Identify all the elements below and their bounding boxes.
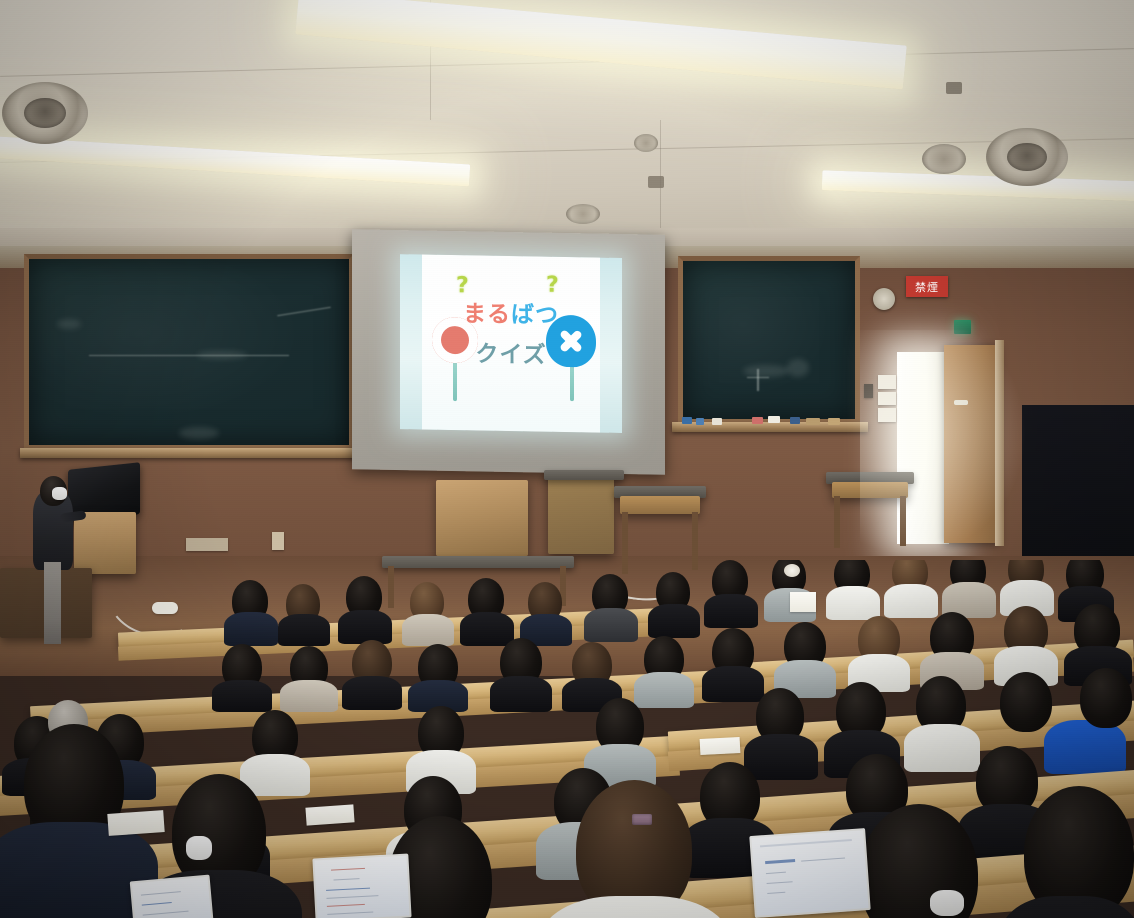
door-panel[interactable] <box>944 345 1000 543</box>
slide-heading-row: まるばつ <box>422 302 600 328</box>
ceiling-light-strip-left <box>0 135 470 186</box>
ceiling-vent-right <box>986 128 1068 186</box>
hair-scrunchie <box>784 564 800 577</box>
ceiling-speaker-right <box>946 82 962 94</box>
student-body <box>338 610 392 644</box>
ceiling-light-strip-top <box>295 0 906 90</box>
chalkboard-right <box>678 256 860 424</box>
tablet-left-screen <box>314 856 409 918</box>
chalk-box-navy <box>790 417 800 424</box>
door-frame <box>995 340 1004 546</box>
door-handle[interactable] <box>954 400 968 405</box>
wall-notice-1 <box>878 375 896 389</box>
student-body <box>884 584 938 618</box>
student-body <box>744 734 818 780</box>
right-stage-table-leg-a <box>834 496 840 548</box>
no-smoking-sign: 禁煙 <box>906 276 948 297</box>
slide-subheading-quiz: クイズ <box>422 342 600 368</box>
student-tablet-left[interactable] <box>312 854 411 918</box>
hair-clip <box>632 814 652 825</box>
audience-seating <box>0 560 1134 918</box>
student-body <box>280 680 338 712</box>
wall-notice-2 <box>878 392 896 405</box>
student-body <box>1044 720 1126 774</box>
student-tablet-right[interactable] <box>749 828 870 918</box>
student-body <box>648 604 700 638</box>
chalk-box-blue <box>682 417 692 424</box>
student-body <box>826 586 880 620</box>
ceiling-speaker-center <box>648 176 664 188</box>
face-mask-icon <box>186 836 212 860</box>
dark-alcove-right <box>1022 405 1134 563</box>
ceiling-vent-small-right <box>922 144 966 174</box>
ceiling-vent-left <box>2 82 88 144</box>
chalkboard-left <box>24 254 354 450</box>
projection-screen: ? ? まるばつ クイズ <box>352 229 665 474</box>
chalk-box-blue-2 <box>696 418 704 425</box>
slide-heading-batsu: ばつ <box>511 302 559 329</box>
student-body <box>904 724 980 772</box>
chalk-box-pink <box>752 417 763 424</box>
student-body <box>634 672 694 708</box>
emergency-exit-light-icon <box>954 320 971 334</box>
wooden-box-center-right <box>548 476 614 554</box>
question-mark-icon-right: ? <box>546 273 559 298</box>
wall-switch-plate[interactable] <box>864 384 873 398</box>
wooden-cabinet-center <box>436 480 528 556</box>
lecture-hall-photo: ? ? まるばつ クイズ 禁煙 <box>0 0 1134 918</box>
student-body <box>212 680 272 712</box>
chalk-box-tan <box>806 418 820 425</box>
slide-heading-maru: まる <box>463 301 511 328</box>
right-stage-table-apron <box>832 482 908 498</box>
student-body <box>342 676 402 710</box>
wall-notice-3 <box>878 408 896 422</box>
desk-paper <box>700 737 741 755</box>
ceiling-light-strip-right <box>822 170 1134 202</box>
student-body <box>702 666 764 702</box>
desk-item-box <box>790 592 816 612</box>
ceiling-dome-center <box>634 134 658 152</box>
chalk-box-tan-2 <box>828 418 840 425</box>
side-table-apron <box>620 496 700 514</box>
ceiling-dome-lower <box>566 204 600 224</box>
student-body <box>278 614 330 646</box>
chalk-eraser-white-2 <box>768 416 780 423</box>
chalk-eraser-white <box>712 418 722 425</box>
chalk-tray-left <box>20 448 362 458</box>
desk-handout-center <box>305 804 354 825</box>
wall-clock-icon <box>873 288 895 310</box>
student-body <box>584 608 638 642</box>
wall-outlet-single <box>272 532 284 550</box>
student-head <box>1080 668 1132 728</box>
student-body <box>402 614 454 646</box>
student-body <box>224 612 278 646</box>
face-mask-icon <box>930 890 964 916</box>
ceiling <box>0 0 1134 250</box>
face-mask-icon <box>52 487 67 500</box>
wall-outlet-group <box>186 538 228 551</box>
student-head <box>1000 672 1052 732</box>
slide-artboard: ? ? まるばつ クイズ <box>422 254 600 432</box>
tablet-right-screen <box>751 830 868 916</box>
tablet-mid-screen <box>132 877 212 918</box>
right-stage-table-leg-b <box>900 496 906 546</box>
projected-slide: ? ? まるばつ クイズ <box>400 254 622 433</box>
student-body <box>704 594 758 628</box>
desk-handout-left <box>107 810 164 836</box>
student-body <box>460 612 514 646</box>
stage-table-top <box>544 470 624 480</box>
question-mark-icon-left: ? <box>456 273 469 298</box>
student-body <box>490 676 552 712</box>
student-tablet-mid[interactable] <box>130 875 215 918</box>
